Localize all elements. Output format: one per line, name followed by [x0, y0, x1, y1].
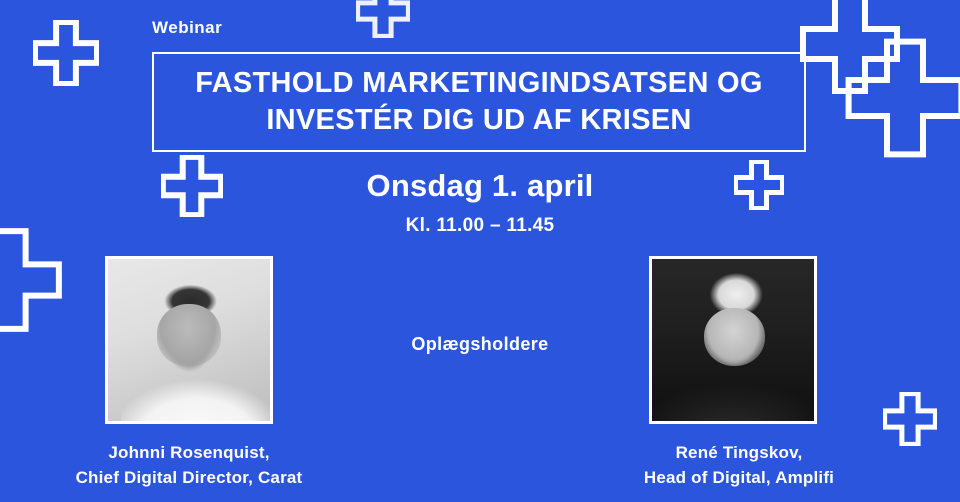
speaker-role-2: Head of Digital, Amplifi	[614, 466, 864, 491]
speaker-portrait-2	[652, 259, 814, 421]
webinar-kicker-label: Webinar	[152, 18, 222, 38]
speaker-name-1: Johnni Rosenquist,	[64, 441, 314, 466]
title-line-2: INVESTÉR DIG UD AF KRISEN	[266, 102, 691, 139]
speaker-role-1: Chief Digital Director, Carat	[64, 466, 314, 491]
plus-cross-icon-top-center	[356, 0, 410, 40]
speaker-photo-frame-2	[649, 256, 817, 424]
speaker-card-2: René Tingskov, Head of Digital, Amplifi	[608, 256, 858, 490]
event-date: Onsdag 1. april	[0, 168, 960, 204]
plus-cross-icon-left-edge-large	[0, 228, 62, 348]
title-box: FASTHOLD MARKETINGINDSATSEN OG INVESTÉR …	[152, 52, 806, 152]
event-time: Kl. 11.00 – 11.45	[0, 215, 960, 237]
plus-cross-icon-right-edge	[845, 38, 960, 116]
speaker-name-2: René Tingskov,	[614, 441, 864, 466]
speaker-photo-frame-1	[105, 256, 273, 424]
plus-cross-icon-bottom-right	[883, 392, 937, 450]
speaker-card-1: Johnni Rosenquist, Chief Digital Directo…	[64, 256, 314, 490]
plus-cross-icon-top-right	[800, 0, 900, 94]
webinar-poster: Webinar FASTHOLD MARKETINGINDSATSEN OG I…	[0, 0, 960, 502]
title-line-1: FASTHOLD MARKETINGINDSATSEN OG	[195, 65, 763, 102]
plus-cross-icon-top-left	[33, 20, 99, 86]
speaker-portrait-1	[108, 259, 270, 421]
